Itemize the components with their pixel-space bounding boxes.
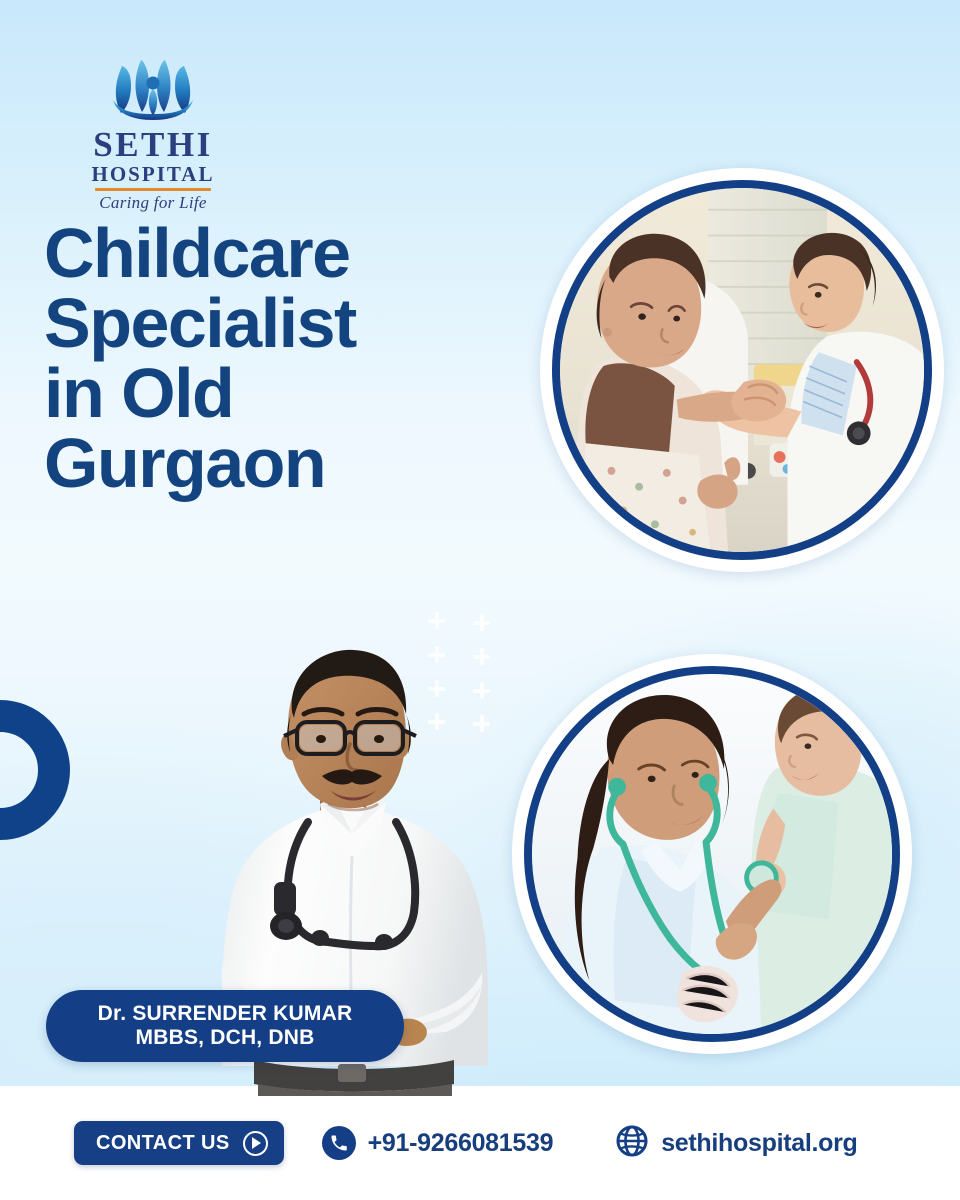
doctor-qualifications: MBBS, DCH, DNB xyxy=(136,1026,315,1050)
photo-ring xyxy=(524,666,900,1042)
doctor-name: Dr. SURRENDER KUMAR xyxy=(98,1002,353,1026)
logo-name-top: SETHI xyxy=(68,127,238,162)
headline-line-3: in Old xyxy=(44,358,514,428)
contact-us-label: CONTACT US xyxy=(96,1132,230,1155)
phone-contact[interactable]: +91-9266081539 xyxy=(322,1126,554,1160)
phone-number: +91-9266081539 xyxy=(368,1129,554,1158)
doctor-name-badge: Dr. SURRENDER KUMAR MBBS, DCH, DNB xyxy=(46,990,404,1062)
phone-icon xyxy=(322,1126,356,1160)
plus-icon xyxy=(428,612,445,629)
photo-doctor-stethoscope-child-checkup xyxy=(512,654,912,1054)
plus-icon xyxy=(473,614,490,631)
website-contact[interactable]: sethihospital.org xyxy=(615,1124,857,1163)
brand-logo: SETHI HOSPITAL Caring for Life xyxy=(68,56,238,211)
photo-image xyxy=(532,674,892,1034)
headline-line-4: Gurgaon xyxy=(44,428,514,498)
headline-line-1: Childcare xyxy=(44,218,514,288)
headline-line-2: Specialist xyxy=(44,288,514,358)
website-url: sethihospital.org xyxy=(661,1129,857,1158)
play-arrow-icon xyxy=(243,1131,268,1156)
contact-bar: CONTACT US +91-9266081539 set xyxy=(0,1086,960,1200)
page-title: Childcare Specialist in Old Gurgaon xyxy=(44,218,514,498)
logo-divider xyxy=(95,188,211,191)
photo-ring xyxy=(552,180,932,560)
lotus-figure-icon xyxy=(93,56,213,126)
photo-pediatrician-examining-girl-hand xyxy=(540,168,944,572)
photo-image xyxy=(560,188,924,552)
poster-root: SETHI HOSPITAL Caring for Life Childcare… xyxy=(0,0,960,1200)
logo-name-bottom: HOSPITAL xyxy=(68,164,238,185)
contact-us-button[interactable]: CONTACT US xyxy=(74,1121,284,1165)
globe-icon xyxy=(615,1124,649,1163)
logo-tagline: Caring for Life xyxy=(68,194,238,211)
